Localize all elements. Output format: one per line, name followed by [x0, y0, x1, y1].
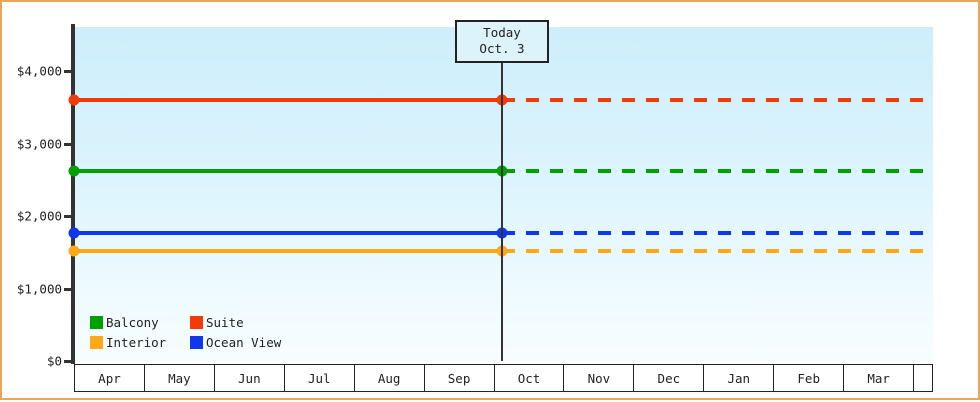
series-line-solid: [74, 231, 502, 235]
x-axis-month-cell[interactable]: Jul: [285, 365, 355, 391]
y-axis-tick: [64, 215, 74, 218]
y-axis-tick-label: $1,000: [17, 281, 62, 296]
legend-item-label: Suite: [206, 315, 244, 330]
y-axis-labels: $0$1,000$2,000$3,000$4,000: [2, 2, 62, 402]
legend-swatch-icon: [90, 316, 103, 329]
series-line-dashed: [502, 231, 933, 235]
today-callout: Today Oct. 3: [455, 20, 549, 63]
legend-item-balcony[interactable]: Balcony: [90, 315, 190, 330]
y-axis-tick: [64, 143, 74, 146]
x-axis-month-cell[interactable]: Apr: [75, 365, 145, 391]
series-point-marker: [69, 228, 80, 239]
series-line-dashed: [502, 169, 933, 173]
x-axis-month-cell[interactable]: Mar: [844, 365, 914, 391]
today-callout-line2: Oct. 3: [467, 41, 537, 57]
y-axis-tick-label: $4,000: [17, 64, 62, 79]
chart-legend: BalconySuiteInteriorOcean View: [90, 312, 281, 352]
x-axis-month-cell[interactable]: May: [145, 365, 215, 391]
y-axis-tick-label: $3,000: [17, 136, 62, 151]
y-axis-tick-label: $0: [47, 354, 62, 369]
x-axis-month-cell[interactable]: Oct: [495, 365, 565, 391]
x-axis-month-cell-partial: [914, 365, 933, 391]
chart-panel: $0$1,000$2,000$3,000$4,000 Today Oct. 3 …: [0, 0, 980, 400]
plot-area: [74, 27, 933, 361]
series-line-solid: [74, 249, 502, 253]
legend-swatch-icon: [190, 336, 203, 349]
legend-item-ocean-view[interactable]: Ocean View: [190, 335, 281, 350]
series-line-solid: [74, 98, 502, 102]
x-axis-month-table: AprMayJunJulAugSepOctNovDecJanFebMar: [74, 364, 933, 392]
y-axis-tick-label: $2,000: [17, 209, 62, 224]
x-axis-month-cell[interactable]: Sep: [425, 365, 495, 391]
x-axis-month-cell[interactable]: Jan: [704, 365, 774, 391]
series-point-marker: [69, 95, 80, 106]
x-axis-month-cell[interactable]: Jun: [215, 365, 285, 391]
x-axis-month-cell[interactable]: Dec: [634, 365, 704, 391]
legend-item-suite[interactable]: Suite: [190, 315, 281, 330]
series-line-dashed: [502, 98, 933, 102]
y-axis-tick: [64, 288, 74, 291]
series-line-solid: [74, 169, 502, 173]
legend-item-label: Balcony: [106, 315, 159, 330]
today-callout-line1: Today: [467, 25, 537, 41]
y-axis-tick: [64, 70, 74, 73]
today-vertical-line: [501, 27, 503, 361]
legend-swatch-icon: [190, 316, 203, 329]
x-axis-month-cell[interactable]: Feb: [774, 365, 844, 391]
x-axis-month-cell[interactable]: Aug: [355, 365, 425, 391]
legend-item-label: Interior: [106, 335, 166, 350]
legend-item-label: Ocean View: [206, 335, 281, 350]
y-axis-tick: [64, 360, 74, 363]
series-point-marker: [69, 166, 80, 177]
y-axis-spine: [71, 24, 75, 364]
series-line-dashed: [502, 249, 933, 253]
legend-item-interior[interactable]: Interior: [90, 335, 190, 350]
series-point-marker: [69, 245, 80, 256]
x-axis-month-cell[interactable]: Nov: [564, 365, 634, 391]
legend-swatch-icon: [90, 336, 103, 349]
